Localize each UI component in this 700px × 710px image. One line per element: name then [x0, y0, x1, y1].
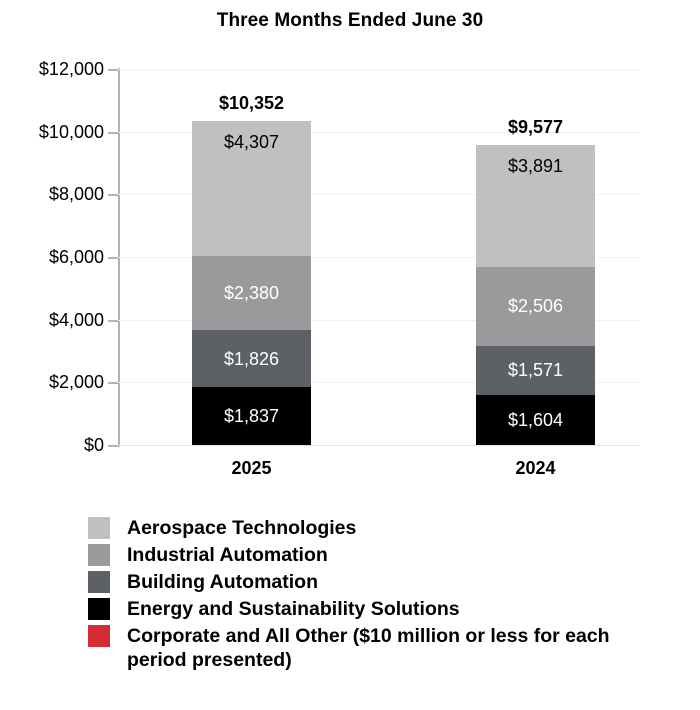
legend-item-label: Aerospace Technologies	[127, 516, 356, 540]
bar-2024[interactable]: $1,604$1,571$2,506$3,891$9,577	[476, 145, 595, 445]
bar-segment-value-label: $1,837	[224, 406, 279, 426]
plot-area: $1,837$1,826$2,380$4,307$10,352$1,604$1,…	[118, 69, 640, 445]
legend-item[interactable]: Energy and Sustainability Solutions	[88, 597, 668, 621]
y-axis-tick-label: $0	[0, 436, 104, 454]
bar-total-label: $9,577	[476, 117, 595, 138]
legend-swatch-icon	[88, 544, 110, 566]
bar-segment-value-label: $1,826	[224, 349, 279, 369]
bar-total-label: $10,352	[192, 93, 311, 114]
legend-item[interactable]: Industrial Automation	[88, 543, 668, 567]
y-axis-tick-label: $8,000	[0, 185, 104, 203]
gridline	[118, 69, 640, 70]
bar-segment[interactable]: $1,826	[192, 330, 311, 387]
x-axis-category-label: 2025	[192, 458, 311, 479]
y-axis-tick	[108, 257, 118, 259]
bar-2025[interactable]: $1,837$1,826$2,380$4,307$10,352	[192, 121, 311, 445]
bar-segment[interactable]: $2,380	[192, 256, 311, 331]
y-axis-tick	[108, 132, 118, 134]
bar-segment-value-label: $1,604	[508, 410, 563, 430]
y-axis-tick-label: $12,000	[0, 60, 104, 78]
legend-swatch-icon	[88, 625, 110, 647]
y-axis-tick	[108, 445, 118, 447]
y-axis-tick	[108, 194, 118, 196]
y-axis-tick-label: $4,000	[0, 311, 104, 329]
bar-segment[interactable]: $4,307	[192, 121, 311, 256]
y-axis-tick-label: $2,000	[0, 373, 104, 391]
gridline	[118, 445, 640, 446]
legend-item-label: Corporate and All Other ($10 million or …	[127, 624, 627, 672]
legend-item-label: Energy and Sustainability Solutions	[127, 597, 460, 621]
legend-item[interactable]: Corporate and All Other ($10 million or …	[88, 624, 668, 672]
bar-segment[interactable]: $2,506	[476, 267, 595, 346]
legend-swatch-icon	[88, 598, 110, 620]
y-axis-tick-label: $10,000	[0, 123, 104, 141]
y-axis-tick	[108, 320, 118, 322]
y-axis-tick-label: $6,000	[0, 248, 104, 266]
legend-item-label: Building Automation	[127, 570, 318, 594]
bar-segment-value-label: $2,380	[224, 283, 279, 303]
bar-segment[interactable]: $3,891	[476, 145, 595, 267]
bar-segment-value-label: $4,307	[224, 132, 279, 152]
bar-segment[interactable]: $1,604	[476, 395, 595, 445]
chart-title: Three Months Ended June 30	[0, 10, 700, 32]
y-axis-tick	[108, 69, 118, 71]
legend-swatch-icon	[88, 517, 110, 539]
legend-item[interactable]: Building Automation	[88, 570, 668, 594]
bar-segment[interactable]: $1,571	[476, 346, 595, 395]
x-axis-category-label: 2024	[476, 458, 595, 479]
stacked-bar-chart: Three Months Ended June 30 $12,000$10,00…	[0, 0, 700, 710]
y-axis-tick	[108, 382, 118, 384]
chart-legend: Aerospace TechnologiesIndustrial Automat…	[88, 516, 668, 675]
bar-segment-value-label: $3,891	[508, 156, 563, 176]
bar-segment-value-label: $2,506	[508, 296, 563, 316]
bar-segment[interactable]: $1,837	[192, 387, 311, 445]
legend-item-label: Industrial Automation	[127, 543, 328, 567]
legend-swatch-icon	[88, 571, 110, 593]
legend-item[interactable]: Aerospace Technologies	[88, 516, 668, 540]
bar-segment-value-label: $1,571	[508, 360, 563, 380]
